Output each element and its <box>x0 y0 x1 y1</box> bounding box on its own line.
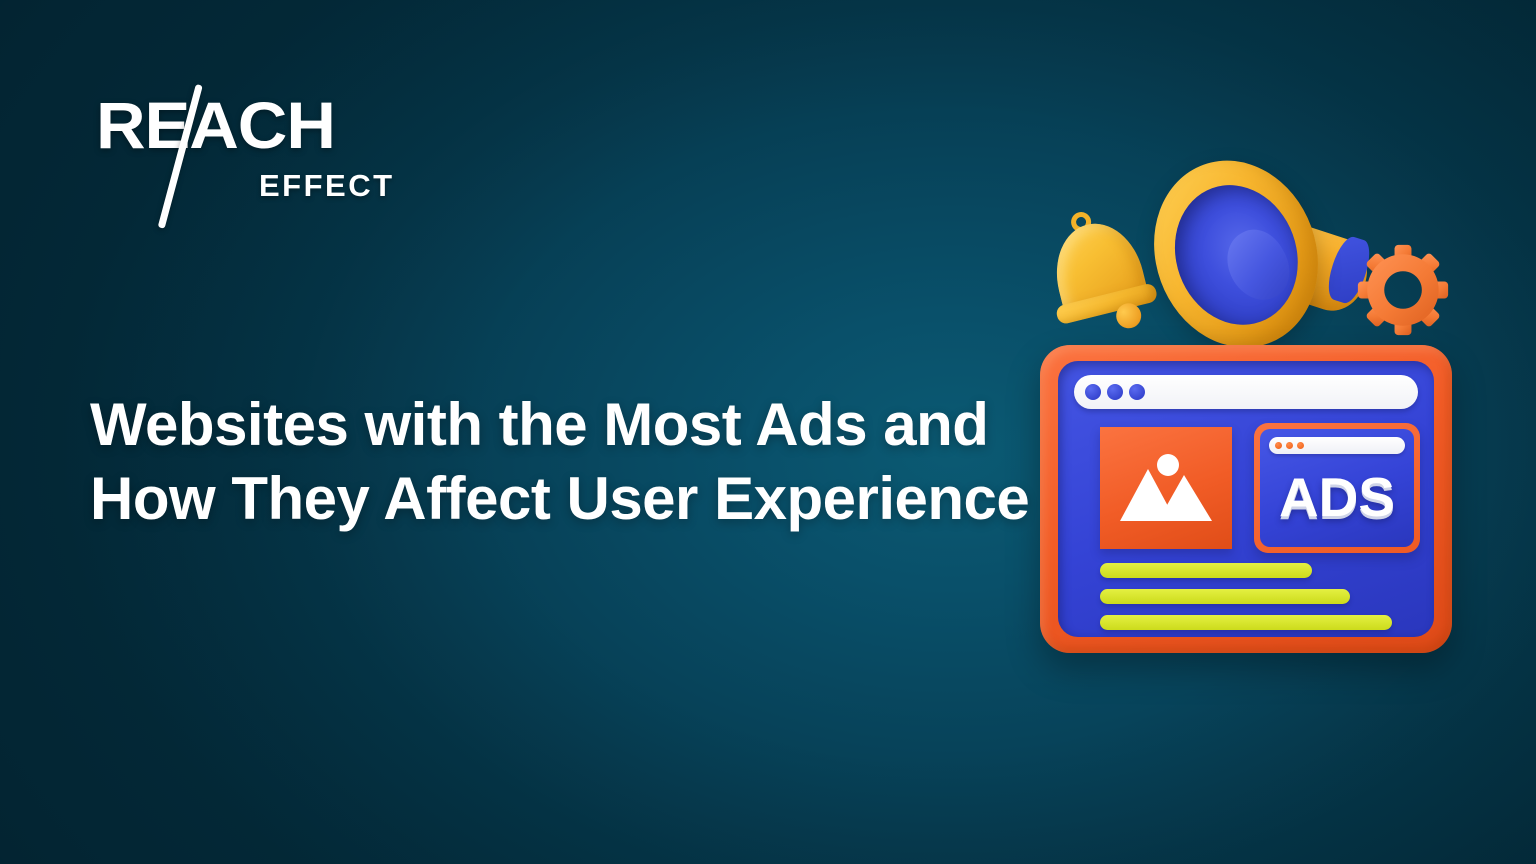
ads-mini-url-bar <box>1269 437 1405 454</box>
hero-banner: REACH EFFECT Websites with the Most Ads … <box>0 0 1536 864</box>
browser-window-card: ADS <box>1040 345 1452 653</box>
ads-mini-dot-2 <box>1286 442 1293 449</box>
image-thumbnail <box>1100 427 1232 549</box>
megaphone-cone-core <box>1216 220 1301 311</box>
ads-mini-dot-1 <box>1275 442 1282 449</box>
browser-card-panel: ADS <box>1058 361 1434 637</box>
ads-label: ADS <box>1260 467 1414 527</box>
url-bar-dot-1 <box>1085 384 1101 400</box>
brand-logo[interactable]: REACH EFFECT <box>96 92 396 212</box>
settings-gear-icon <box>1356 243 1450 337</box>
browser-url-bar[interactable] <box>1074 375 1418 409</box>
megaphone-rim <box>1128 137 1343 370</box>
ads-mini-dot-3 <box>1297 442 1304 449</box>
content-text-line-3 <box>1100 615 1392 630</box>
ads-panel-inner: ADS <box>1260 429 1414 547</box>
page-title: Websites with the Most Ads and How They … <box>90 388 1050 536</box>
content-text-line-2 <box>1100 589 1350 604</box>
logo-tagline: EFFECT <box>259 170 395 201</box>
url-bar-dot-3 <box>1129 384 1145 400</box>
content-text-line-1 <box>1100 563 1312 578</box>
ads-panel: ADS <box>1254 423 1420 553</box>
hero-illustration: ADS <box>1020 155 1460 665</box>
logo-wordmark: REACH <box>96 92 335 158</box>
headline-line-2: How They Affect User Experience <box>90 462 1050 536</box>
headline-line-1: Websites with the Most Ads and <box>90 388 1050 462</box>
megaphone-cone <box>1156 168 1317 342</box>
url-bar-dot-2 <box>1107 384 1123 400</box>
